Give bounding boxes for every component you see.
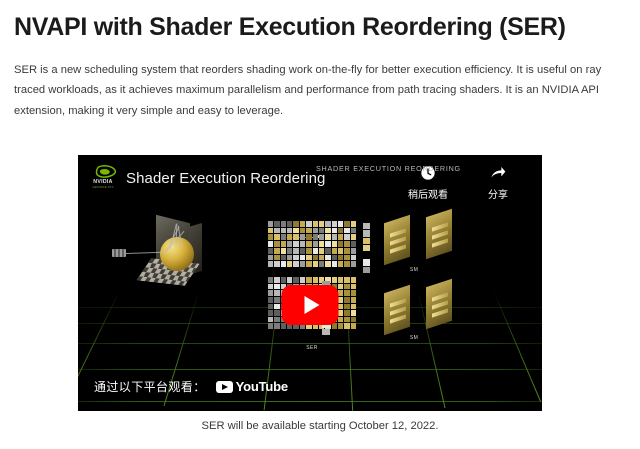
shader-tile [306, 255, 311, 261]
watch-on-platform[interactable]: 通过以下平台观看： YouTube [94, 378, 288, 395]
shader-tile [338, 277, 343, 283]
sm-label-top: SM [394, 267, 434, 273]
shader-tile [344, 234, 349, 240]
shader-tile [268, 234, 273, 240]
shader-tile [281, 248, 286, 254]
shader-tile [281, 241, 286, 247]
shader-tile [344, 228, 349, 234]
shader-tile [274, 228, 279, 234]
article-page: NVAPI with Shader Execution Reordering (… [0, 0, 640, 449]
shader-tile [338, 248, 343, 254]
shader-tile [319, 248, 324, 254]
shader-tile [344, 317, 349, 323]
shader-tile [313, 277, 318, 283]
shader-tile [300, 255, 305, 261]
shader-tile [344, 241, 349, 247]
shader-tile [338, 317, 343, 323]
shader-tile [363, 238, 370, 244]
shader-tile [287, 234, 292, 240]
shader-tile [363, 245, 370, 251]
shader-tile [281, 234, 286, 240]
video-title[interactable]: Shader Execution Reordering [126, 170, 326, 187]
share-arrow-icon [476, 165, 520, 183]
watch-later-label: 稍后观看 [406, 186, 450, 201]
shader-tile [300, 221, 305, 227]
shader-tile [281, 323, 286, 329]
sm-unit-bottom-right [426, 283, 452, 325]
shader-tile [344, 310, 349, 316]
shader-tile [306, 277, 311, 283]
shader-tile [313, 228, 318, 234]
shader-tile-strip-top [363, 223, 370, 251]
shader-tile [274, 284, 279, 290]
shader-tile [274, 234, 279, 240]
shader-tile [344, 290, 349, 296]
shader-tile [344, 304, 349, 310]
shader-tile [287, 261, 292, 267]
shader-tile [293, 255, 298, 261]
shader-tile [306, 221, 311, 227]
shader-tile [274, 277, 279, 283]
shader-tile [338, 323, 343, 329]
shader-tile [268, 290, 273, 296]
shader-tile [319, 241, 324, 247]
shader-tile [344, 261, 349, 267]
shader-tile [351, 241, 356, 247]
shader-tile [281, 228, 286, 234]
shader-tile [313, 221, 318, 227]
shader-tile [344, 221, 349, 227]
share-button[interactable]: 分享 [476, 165, 520, 201]
shader-tile [268, 261, 273, 267]
shader-tile [268, 297, 273, 303]
shader-tile [338, 261, 343, 267]
shader-tile [338, 290, 343, 296]
shader-tile [268, 317, 273, 323]
figure-caption: SER will be available starting October 1… [0, 420, 640, 432]
shader-tile [268, 304, 273, 310]
ray-tracing-illustration [108, 213, 226, 293]
sm-unit-bottom-left [384, 289, 410, 331]
shader-tile [268, 255, 273, 261]
shader-tile [268, 323, 273, 329]
shader-tile [293, 228, 298, 234]
shader-tile [332, 221, 337, 227]
shader-tile [351, 248, 356, 254]
shader-tile [300, 248, 305, 254]
shader-tile [332, 241, 337, 247]
share-label: 分享 [476, 186, 520, 201]
shader-tile [268, 241, 273, 247]
shader-tile [363, 223, 370, 229]
shader-tile [274, 261, 279, 267]
shader-tile [338, 221, 343, 227]
shader-tile [313, 241, 318, 247]
shader-tile [344, 297, 349, 303]
shader-tile [268, 248, 273, 254]
sm-unit-top-right [426, 213, 452, 255]
shader-tile [322, 329, 330, 335]
shader-tile [293, 234, 298, 240]
shader-tile [300, 241, 305, 247]
shader-tile [351, 310, 356, 316]
page-title: NVAPI with Shader Execution Reordering (… [14, 0, 626, 44]
shader-tile [293, 248, 298, 254]
shader-tile [306, 234, 311, 240]
video-header-bar: NVIDIA GEFORCE RTX Shader Execution Reor… [78, 155, 542, 209]
shader-tile [306, 228, 311, 234]
shader-tile [351, 290, 356, 296]
shader-tile [325, 255, 330, 261]
shader-tile [287, 248, 292, 254]
nvidia-eye-icon [90, 165, 116, 180]
shader-tile [319, 221, 324, 227]
shader-tile [351, 228, 356, 234]
video-player[interactable]: SM SM SER [78, 155, 542, 411]
shader-tile [319, 234, 324, 240]
shader-tile [332, 234, 337, 240]
shader-tile [351, 297, 356, 303]
shader-tile [332, 261, 337, 267]
shader-tile [325, 248, 330, 254]
video-overlay-title: SHADER EXECUTION REORDERING [316, 164, 461, 173]
shader-tile [344, 248, 349, 254]
shader-tile [344, 277, 349, 283]
youtube-wordmark: YouTube [236, 379, 288, 394]
shader-tile [313, 248, 318, 254]
shader-tile [274, 241, 279, 247]
shader-tile [338, 241, 343, 247]
shader-tile [338, 255, 343, 261]
shader-tile [268, 277, 273, 283]
shader-tile [338, 284, 343, 290]
shader-tile [287, 255, 292, 261]
shader-tile [332, 277, 337, 283]
shader-tile [351, 304, 356, 310]
shader-tile [351, 255, 356, 261]
shader-tile [268, 310, 273, 316]
shader-tile [351, 221, 356, 227]
shader-tile [274, 304, 279, 310]
shader-tile [306, 248, 311, 254]
play-triangle-icon [305, 296, 320, 314]
shader-tile [281, 261, 286, 267]
ser-label: SER [292, 345, 332, 351]
shader-tile [300, 234, 305, 240]
shader-tile [293, 241, 298, 247]
shader-tile [338, 228, 343, 234]
shader-tile [274, 221, 279, 227]
shader-tile-grid-unsorted [268, 221, 356, 267]
shader-tile [332, 248, 337, 254]
shader-tile [300, 261, 305, 267]
sm-label-bottom: SM [394, 335, 434, 341]
shader-tile [287, 228, 292, 234]
shader-tile [325, 261, 330, 267]
shader-tile [325, 228, 330, 234]
shader-tile [325, 221, 330, 227]
shader-tile [351, 317, 356, 323]
shader-tile [313, 261, 318, 267]
shader-tile [351, 323, 356, 329]
shader-tile [268, 228, 273, 234]
intro-paragraph: SER is a new scheduling system that reor… [14, 44, 626, 122]
shader-tile [319, 228, 324, 234]
shader-tile-strip-middle [363, 259, 370, 273]
watch-on-text: 通过以下平台观看： [94, 378, 206, 395]
shader-tile [287, 221, 292, 227]
shader-tile [338, 304, 343, 310]
shader-tile [293, 221, 298, 227]
shader-tile [313, 255, 318, 261]
shader-tile [338, 234, 343, 240]
shader-tile [293, 261, 298, 267]
shader-tile [338, 310, 343, 316]
shader-tile [325, 234, 330, 240]
shader-tile [268, 221, 273, 227]
shader-tile [306, 241, 311, 247]
shader-tile [268, 284, 273, 290]
nvidia-sub-wordmark: GEFORCE RTX [89, 185, 117, 189]
shader-tile [319, 261, 324, 267]
shader-tile [344, 284, 349, 290]
shader-tile [351, 234, 356, 240]
shader-tile [325, 241, 330, 247]
shader-tile [274, 248, 279, 254]
shader-tile [332, 228, 337, 234]
shader-tile [281, 221, 286, 227]
shader-tile [274, 297, 279, 303]
video-embed[interactable]: SM SM SER [78, 155, 542, 411]
shader-tile [300, 277, 305, 283]
nvidia-logo-icon: NVIDIA GEFORCE RTX [88, 164, 118, 190]
shader-tile [293, 277, 298, 283]
shader-tile [274, 255, 279, 261]
shader-tile [351, 284, 356, 290]
shader-tile [274, 317, 279, 323]
shader-tile [344, 255, 349, 261]
shader-tile [287, 277, 292, 283]
shader-tile [274, 290, 279, 296]
shader-tile [363, 267, 370, 274]
shader-tile [306, 261, 311, 267]
shader-tile [363, 230, 370, 236]
shader-tile [281, 277, 286, 283]
shader-tile [363, 259, 370, 266]
youtube-play-icon [216, 381, 233, 393]
shader-tile [274, 310, 279, 316]
shader-tile [300, 228, 305, 234]
shader-tile [313, 234, 318, 240]
shader-tile [344, 323, 349, 329]
sm-unit-top-left [384, 219, 410, 261]
youtube-logo[interactable]: YouTube [216, 379, 288, 394]
shader-tile [338, 297, 343, 303]
shader-tile [281, 255, 286, 261]
shader-tile [287, 241, 292, 247]
play-button[interactable] [282, 285, 339, 325]
shader-tile [332, 255, 337, 261]
shader-tile [274, 323, 279, 329]
shader-tile [319, 255, 324, 261]
shader-tile [351, 261, 356, 267]
shader-tile [351, 277, 356, 283]
